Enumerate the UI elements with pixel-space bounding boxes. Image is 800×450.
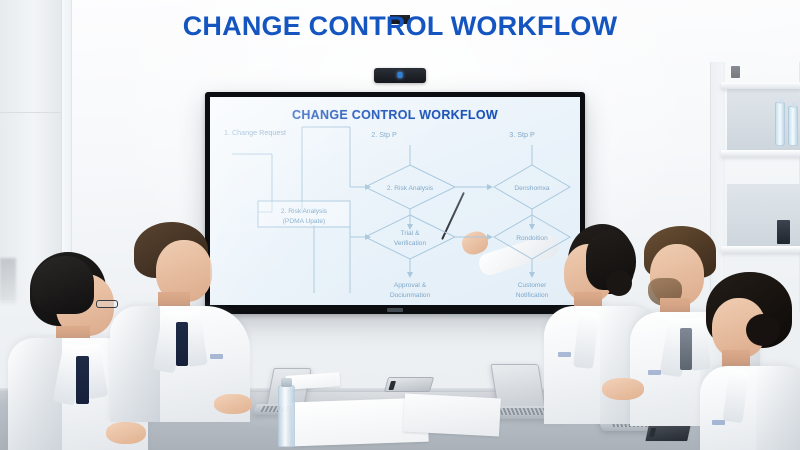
hair-bun (606, 270, 632, 296)
camera-led-icon (398, 72, 403, 78)
shelf-item-small (731, 66, 740, 78)
display-screen: CHANGE CONTROL WORKFLOW (210, 97, 580, 305)
coat-badge (712, 420, 725, 425)
svg-text:Verification: Verification (394, 240, 427, 247)
coat-badge (210, 354, 223, 359)
papers-secondary[interactable] (403, 394, 501, 437)
conference-camera (374, 68, 426, 83)
bottle-cap (281, 378, 292, 387)
coat-badge (558, 352, 571, 357)
svg-text:Customer: Customer (518, 282, 547, 289)
smartphone[interactable] (384, 377, 434, 392)
svg-text:Trial &: Trial & (401, 230, 420, 237)
hands-clasped (106, 422, 146, 444)
shelf-bottle-1 (775, 102, 785, 146)
svg-text:Approval &: Approval & (394, 282, 427, 289)
workflow-diagram: 1. Change Request 2. Stp P 3. Stp P 2. R… (210, 97, 580, 305)
person-far-right (700, 272, 800, 450)
svg-text:2. Stp P: 2. Stp P (371, 130, 397, 139)
svg-text:Rondoition: Rondoition (516, 235, 548, 242)
coat-badge (648, 370, 661, 375)
hair-bun (746, 314, 780, 346)
tablet-device[interactable] (644, 424, 692, 442)
svg-text:Dociunmation: Dociunmation (390, 292, 431, 299)
shelf-plank-top (721, 82, 800, 89)
svg-text:2. Risk Analysis: 2. Risk Analysis (281, 208, 328, 215)
meeting-room-scene: CHANGE CONTROL WORKFLOW (0, 0, 800, 450)
page-title: CHANGE CONTROL WORKFLOW (0, 11, 800, 42)
water-bottle[interactable] (278, 385, 295, 447)
svg-text:(PDMA Upate): (PDMA Upate) (283, 218, 326, 225)
svg-text:Notification: Notification (516, 292, 549, 299)
display-logo-icon (387, 308, 403, 312)
shelf-plank-mid (721, 150, 800, 157)
slide-title: CHANGE CONTROL WORKFLOW (210, 108, 580, 122)
wall-display[interactable]: CHANGE CONTROL WORKFLOW (205, 92, 585, 314)
svg-text:2. Risk Analysis: 2. Risk Analysis (387, 185, 434, 192)
shelf-bottle-2 (788, 106, 798, 146)
svg-text:3. Stp P: 3. Stp P (509, 130, 535, 139)
resting-hand (602, 378, 644, 400)
svg-text:1. Change Request: 1. Change Request (224, 128, 286, 137)
svg-text:Denshomxa: Denshomxa (514, 185, 550, 192)
resting-hand (214, 394, 252, 414)
shelf-equipment (777, 220, 790, 244)
